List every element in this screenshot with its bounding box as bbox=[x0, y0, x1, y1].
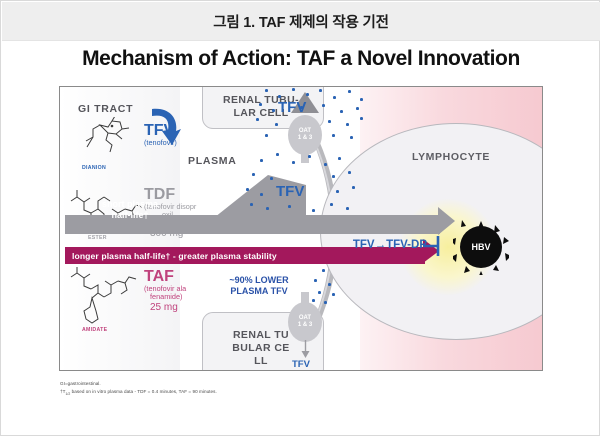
inhibition-symbol-icon bbox=[423, 233, 447, 259]
oat-transporter-bottom: OAT 1 & 3 bbox=[288, 302, 322, 342]
figure-caption: 그림 1. TAF 제제의 작용 기전 bbox=[213, 11, 389, 32]
absorption-arrow-icon bbox=[146, 105, 182, 149]
caption-band: 그림 1. TAF 제제의 작용 기전 bbox=[2, 2, 600, 41]
renal-bottom-line2: BULAR CE bbox=[209, 342, 313, 355]
plasma-label: PLASMA bbox=[188, 155, 237, 167]
tfv-plasma-label: TFV bbox=[276, 183, 304, 200]
drug-taf-tag: AMIDATE bbox=[82, 327, 107, 333]
figure-page: 그림 1. TAF 제제의 작용 기전 Mechanism of Action:… bbox=[0, 0, 600, 436]
oat-bottom-line2: 1 & 3 bbox=[298, 322, 312, 328]
drug-tdf-tag: ESTER bbox=[88, 235, 107, 241]
tfv-renal-bottom-label: TFV bbox=[292, 359, 310, 370]
drug-taf-dose: 25 mg bbox=[144, 302, 186, 312]
gi-tract-label: GI TRACT bbox=[78, 103, 133, 115]
svg-text:HBV: HBV bbox=[471, 242, 490, 252]
tfv-conversion-label: TFV→TFV-DP bbox=[353, 239, 427, 251]
tfv-structure bbox=[82, 117, 136, 159]
drug-tfv-tag: DIANION bbox=[82, 165, 106, 171]
drug-taf-name: TAF bbox=[144, 269, 186, 285]
short-half-life-line1: short plasma bbox=[70, 199, 190, 210]
drug-taf-subtitle-2: fenamide) bbox=[144, 293, 186, 301]
footnote-gi: GI=gastrointestinal. bbox=[60, 381, 101, 386]
drug-taf: TAF (tenofovir ala fenamide) 25 mg bbox=[144, 269, 186, 312]
longer-half-life-label: longer plasma half-life† - greater plasm… bbox=[72, 251, 277, 261]
taf-structure bbox=[68, 267, 142, 329]
mechanism-diagram: LYMPHOCYTE RENAL TUBU- LAR CELL RENAL TU… bbox=[59, 86, 543, 371]
oat-top-line2: 1 & 3 bbox=[298, 135, 312, 141]
oat-bottom-line1: OAT bbox=[299, 315, 311, 321]
lower-plasma-tfv-line1: ~90% LOWER bbox=[197, 275, 321, 286]
page-title: Mechanism of Action: TAF a Novel Innovat… bbox=[1, 47, 600, 71]
lymphocyte-label: LYMPHOCYTE bbox=[412, 151, 490, 163]
tfv-renal-top-label: TFV bbox=[278, 99, 306, 116]
short-half-life-label: short plasma half-life† bbox=[70, 199, 190, 221]
oat-transporter-top: OAT 1 & 3 bbox=[288, 115, 322, 155]
lower-plasma-tfv-line2: PLASMA TFV bbox=[197, 286, 321, 297]
oat-top-line1: OAT bbox=[299, 128, 311, 134]
short-half-life-line2: half-life† bbox=[70, 210, 190, 221]
oat-bottom-efflux-arrow-icon bbox=[301, 340, 310, 358]
hbv-virion-icon: HBV bbox=[453, 219, 509, 275]
footnote-halflife-rest: based on in vitro plasma data - TDF = 0.… bbox=[70, 389, 216, 394]
footnote-halflife: †T1/2 based on in vitro plasma data - TD… bbox=[60, 389, 217, 396]
lower-plasma-tfv-annotation: ~90% LOWER PLASMA TFV bbox=[197, 275, 321, 297]
